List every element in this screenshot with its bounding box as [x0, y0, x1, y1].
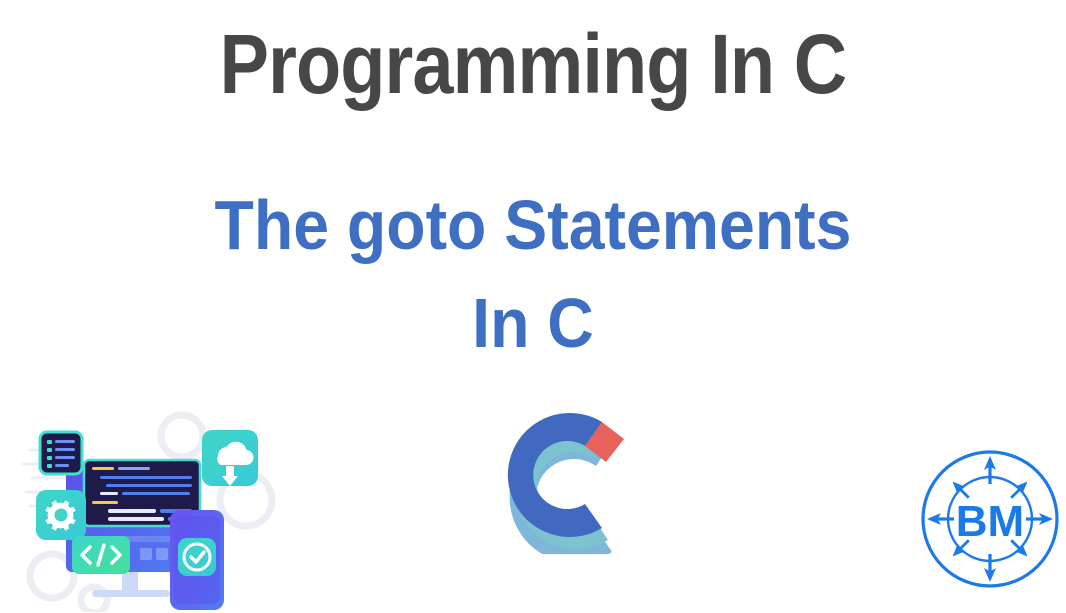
check-circle-icon: [178, 538, 216, 576]
bm-logo-text: BM: [956, 497, 1024, 546]
bm-compass-logo: BM: [916, 444, 1064, 594]
settings-card: [36, 490, 86, 540]
cloud-download-card: [202, 430, 258, 486]
page-title: Programming In C: [64, 14, 1002, 114]
mobile-device: [170, 510, 224, 610]
programming-illustration: [22, 404, 290, 612]
checklist-card: [40, 432, 82, 474]
page-subtitle: The goto Statements In C: [43, 176, 1024, 372]
monitor-stand: [92, 572, 170, 597]
subtitle-line-1: The goto Statements: [43, 176, 1024, 274]
subtitle-line-2: In C: [43, 274, 1024, 372]
slide-canvas: Programming In C The goto Statements In …: [0, 0, 1066, 613]
c-language-logo: [478, 382, 648, 554]
code-tag-card: [72, 536, 130, 574]
